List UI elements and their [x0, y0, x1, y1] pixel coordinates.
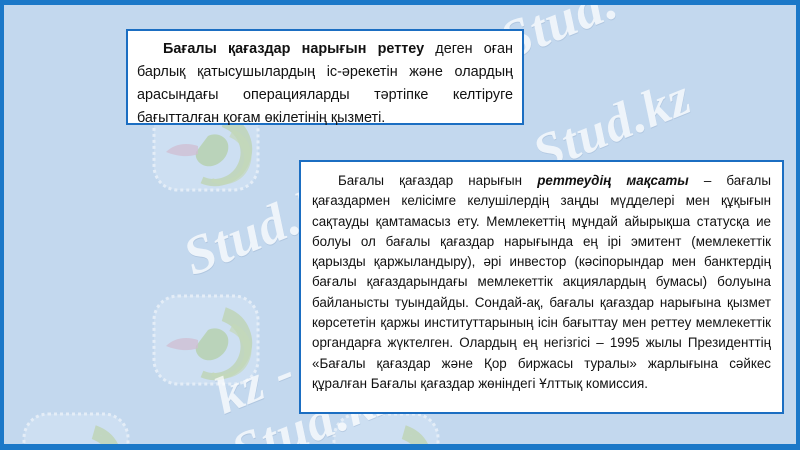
stud-kz-bird-logo [150, 290, 262, 390]
purpose-body: – бағалы қағаздармен келісімге келушілер… [312, 173, 771, 391]
purpose-text-box: Бағалы қағаздар нарығын реттеудің мақсат… [299, 160, 784, 414]
slide-canvas: kz - Stud. Stud.kz Stud.kz Stud.kz kz - … [0, 0, 800, 450]
definition-paragraph: Бағалы қағаздар нарығын реттеу деген оға… [137, 38, 513, 130]
definition-text-box: Бағалы қағаздар нарығын реттеу деген оға… [126, 29, 524, 125]
purpose-lead: Бағалы қағаздар нарығын [338, 173, 537, 188]
slide-frame-left [0, 0, 4, 450]
slide-frame-bottom [0, 444, 800, 450]
slide-frame-top [0, 0, 800, 5]
purpose-emphasis: реттеудің мақсаты [537, 173, 689, 188]
definition-term: Бағалы қағаздар нарығын реттеу [163, 41, 424, 57]
slide-frame-right [796, 0, 800, 450]
purpose-paragraph: Бағалы қағаздар нарығын реттеудің мақсат… [312, 171, 771, 394]
